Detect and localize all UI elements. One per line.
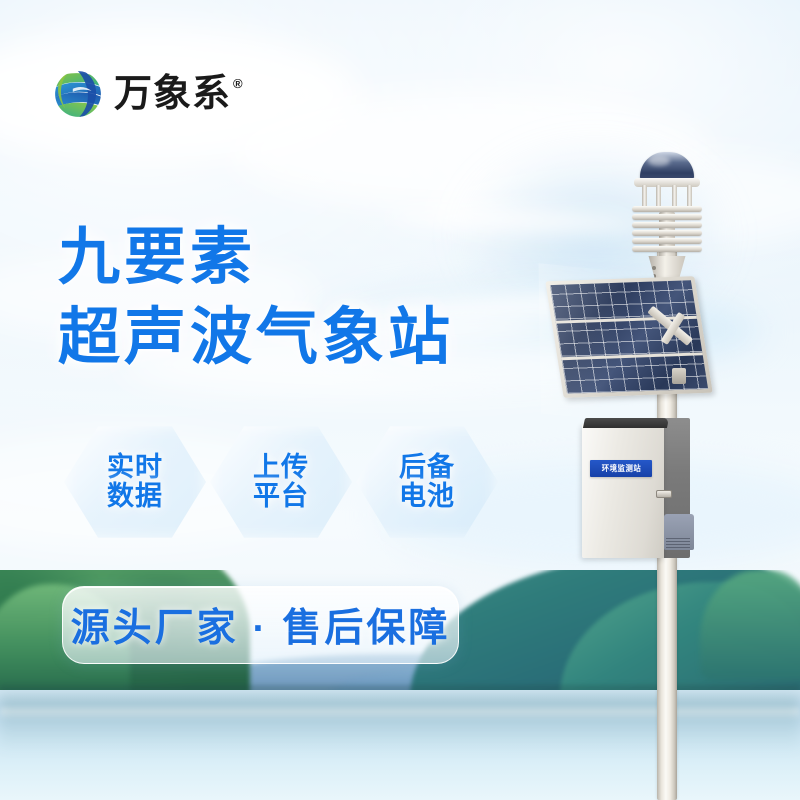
radiation-shield (632, 206, 702, 258)
cabinet-top-cover (583, 418, 669, 428)
brand-logo[interactable]: 万象系 ® (52, 68, 243, 120)
cabinet-label-text: 环境监测站 (601, 463, 641, 474)
badge-line-2: 电池 (399, 482, 455, 511)
badge-text: 后备 电池 (399, 453, 455, 511)
cabinet-lock-latch (656, 490, 672, 498)
page-title: 九要素 超声波气象站 (58, 222, 454, 374)
feature-badge-upload-platform[interactable]: 上传 平台 (210, 424, 352, 540)
badge-line-1: 后备 (399, 453, 455, 482)
poster-canvas: 环境监测站 (0, 0, 800, 800)
cabinet-label-plate: 环境监测站 (590, 460, 652, 477)
brand-name: 万象系 (114, 75, 231, 113)
headline-line-2: 超声波气象站 (58, 302, 454, 374)
guarantee-text: 源头厂家 · 售后保障 (71, 597, 451, 653)
globe-swirl-logo-icon (52, 68, 104, 120)
feature-badge-backup-battery[interactable]: 后备 电池 (356, 424, 498, 540)
badge-line-2: 数据 (107, 482, 163, 511)
badge-line-1: 上传 (253, 453, 309, 482)
badge-text: 实时 数据 (107, 453, 163, 511)
cabinet-front-door: 环境监测站 (582, 424, 664, 558)
feature-badge-realtime-data[interactable]: 实时 数据 (64, 424, 206, 540)
registered-trademark-icon: ® (233, 77, 243, 90)
cabinet-vent-louvers (666, 536, 690, 548)
feature-badge-list: 实时 数据 上传 平台 后备 电池 (64, 424, 498, 540)
badge-text: 上传 平台 (253, 453, 309, 511)
guarantee-banner[interactable]: 源头厂家 · 售后保障 (62, 586, 459, 664)
badge-line-2: 平台 (253, 482, 309, 511)
badge-line-1: 实时 (107, 453, 163, 482)
ultrasonic-weather-station: 环境监测站 (560, 140, 760, 800)
headline-line-1: 九要素 (58, 222, 454, 294)
pole-clamp (672, 368, 686, 384)
control-cabinet: 环境监测站 (582, 418, 690, 558)
